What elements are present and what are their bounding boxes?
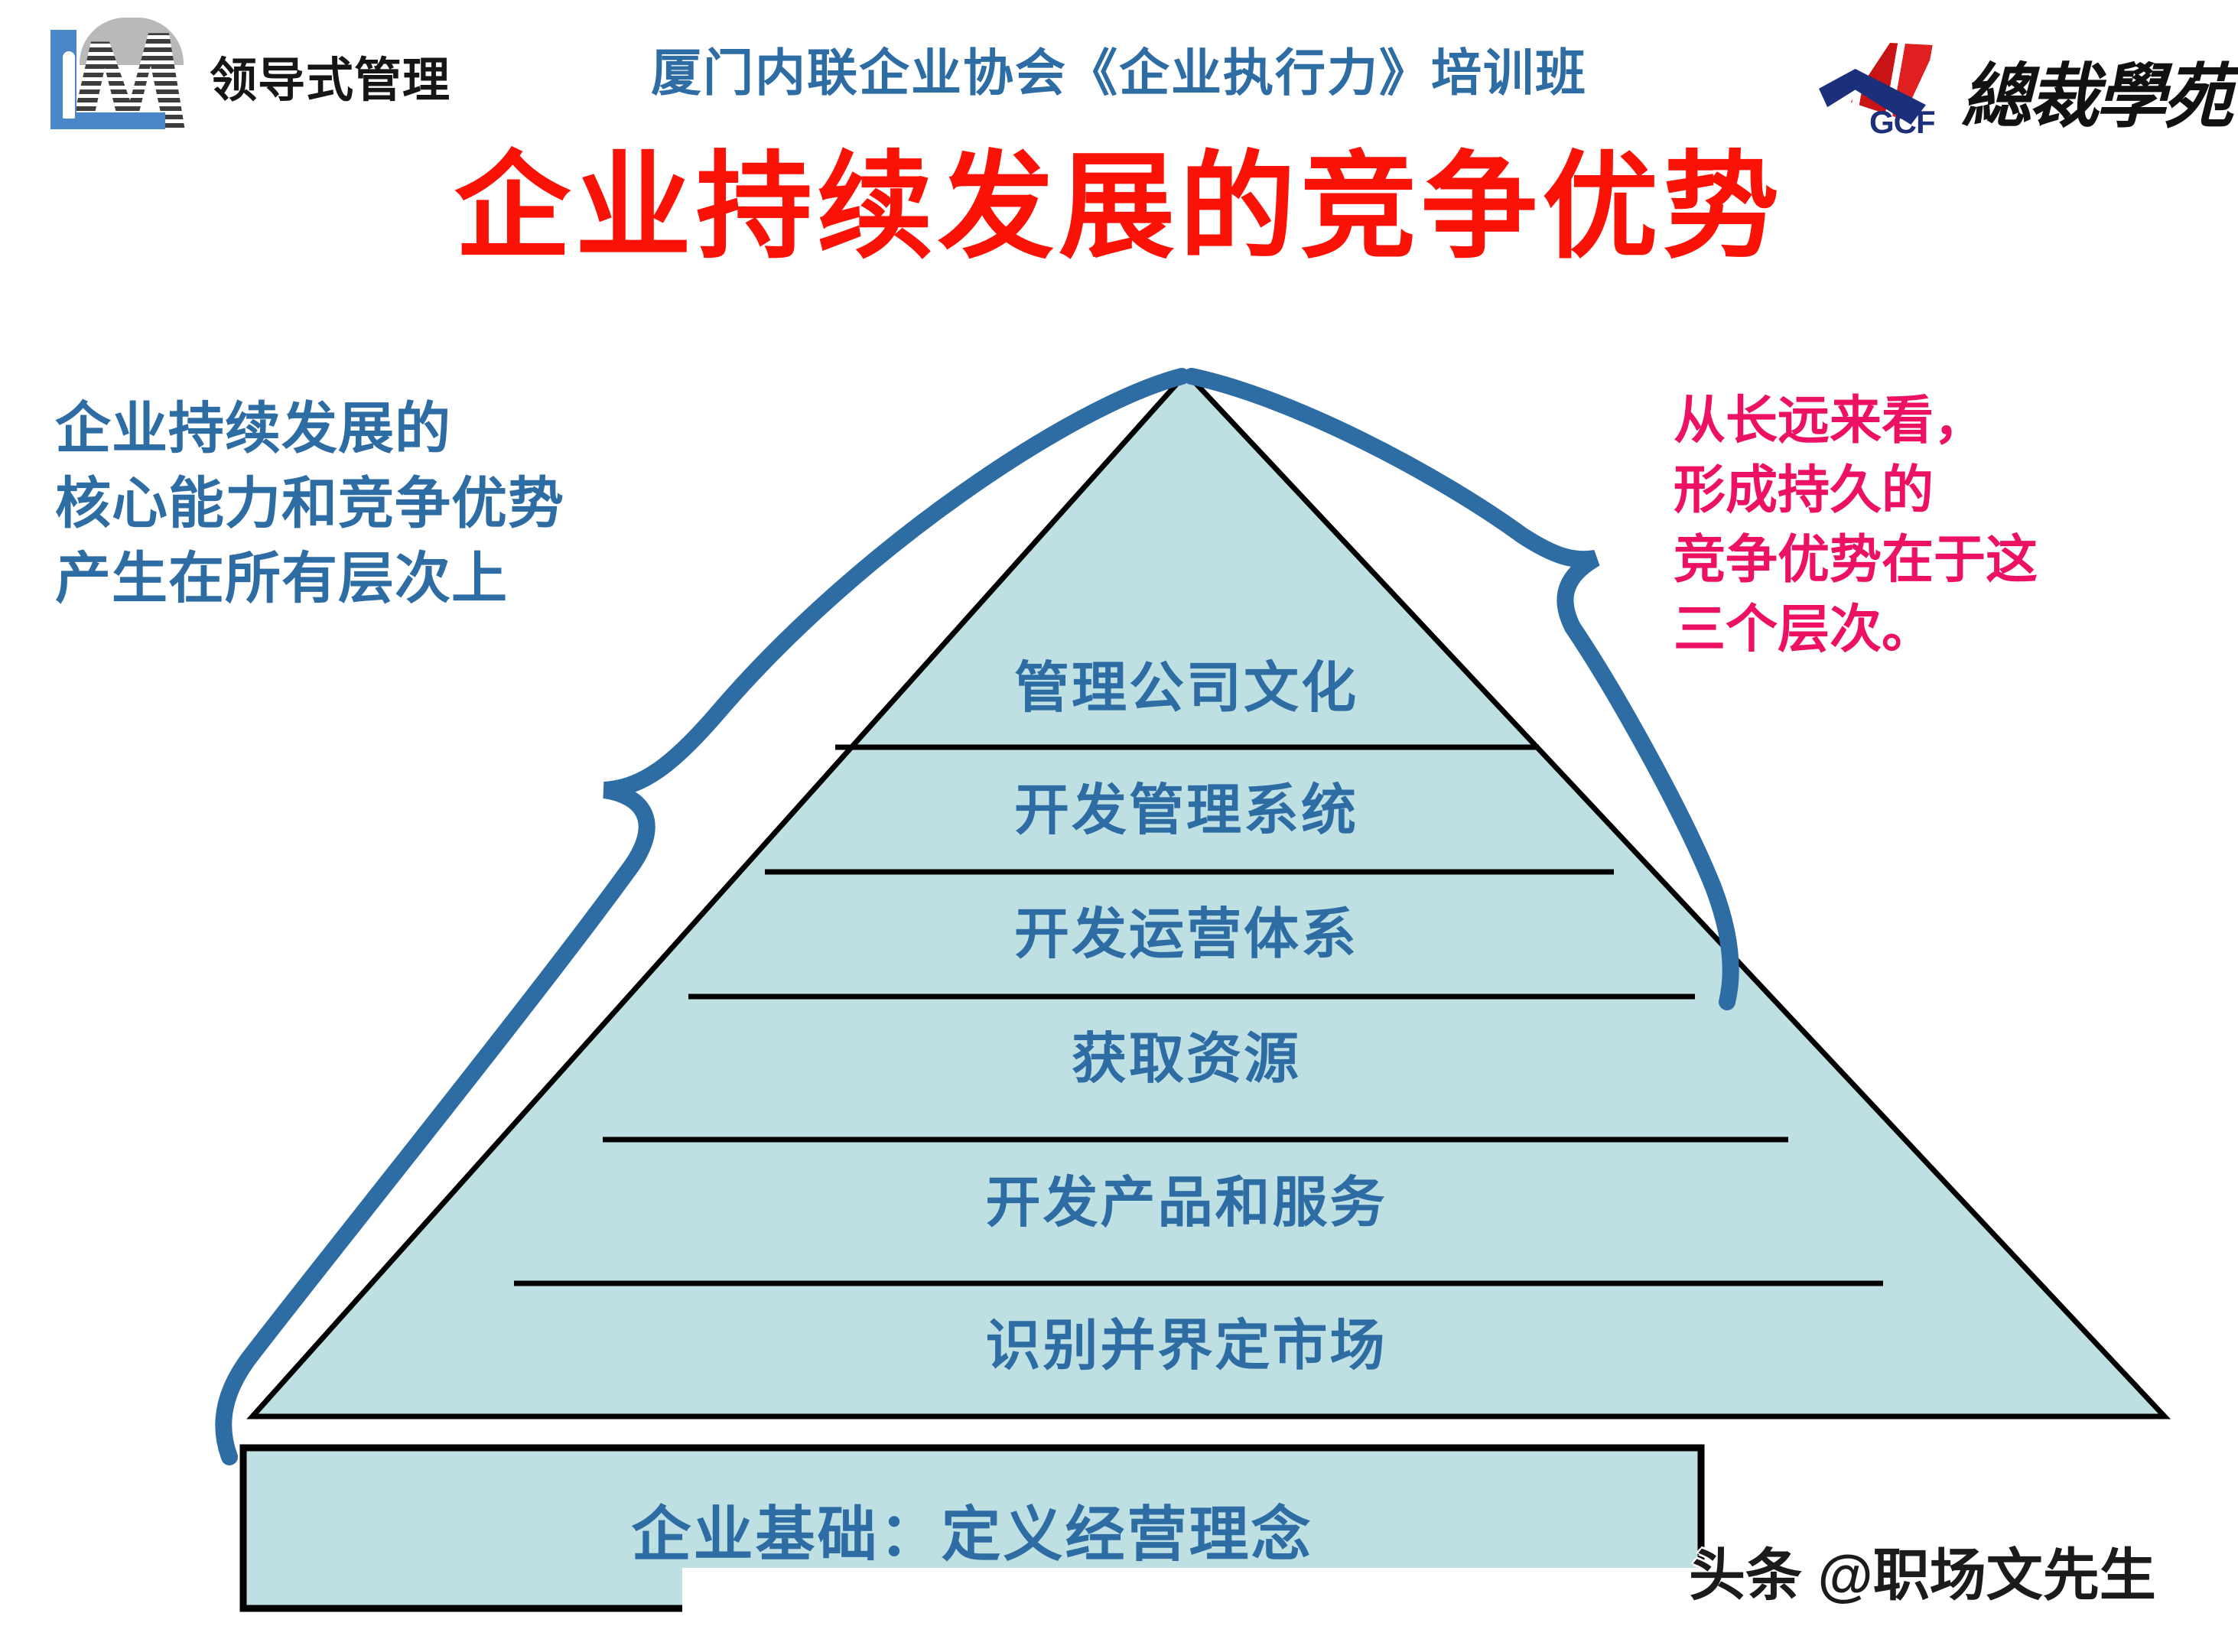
left-caption-line-3: 产生在所有层次上 — [55, 541, 889, 616]
left-caption-block: 企业持续发展的 核心能力和竞争优势 产生在所有层次上 — [55, 392, 889, 616]
right-caption-line-1: 从长远来看， — [1674, 386, 2238, 456]
slide-title: 企业持续发展的竞争优势 — [0, 139, 2238, 276]
pyramid-level-label-3: 开发运营体系 — [651, 889, 1722, 969]
pyramid-level-label-4: 获取资源 — [651, 1013, 1722, 1094]
watermark-label: 头条 @职场文先生 — [1689, 1530, 2156, 1611]
gcf-abbr-label: GCF — [1869, 104, 1935, 141]
gcf-swoosh-icon: GCF — [1813, 21, 1958, 144]
pyramid-level-label-1: 管理公司文化 — [651, 642, 1722, 723]
right-caption-block: 从长远来看， 形成持久的 竞争优势在于这 三个层次。 — [1674, 386, 2238, 665]
header-band: 领导式管理 厦门内联企业协会《企业执行力》培训班 GCF 總裁學苑 — [0, 0, 2238, 153]
left-caption-line-1: 企业持续发展的 — [55, 392, 889, 467]
right-caption-line-3: 竞争优势在于这 — [1674, 525, 2238, 595]
pyramid-level-label-6: 识别并界定市场 — [651, 1300, 1722, 1380]
right-caption-line-4: 三个层次。 — [1674, 595, 2238, 665]
gcf-academy-name-label: 總裁學苑 — [1961, 61, 2230, 144]
pyramid-level-label-2: 开发管理系统 — [651, 765, 1722, 845]
pyramid-level-label-5: 开发产品和服务 — [651, 1157, 1722, 1237]
pyramid-base-label: 企业基础：定义经营理念 — [243, 1487, 1701, 1572]
left-caption-line-2: 核心能力和竞争优势 — [55, 467, 889, 541]
right-caption-line-2: 形成持久的 — [1674, 456, 2238, 525]
gcf-academy-logo: GCF 總裁學苑 — [1813, 12, 2218, 144]
